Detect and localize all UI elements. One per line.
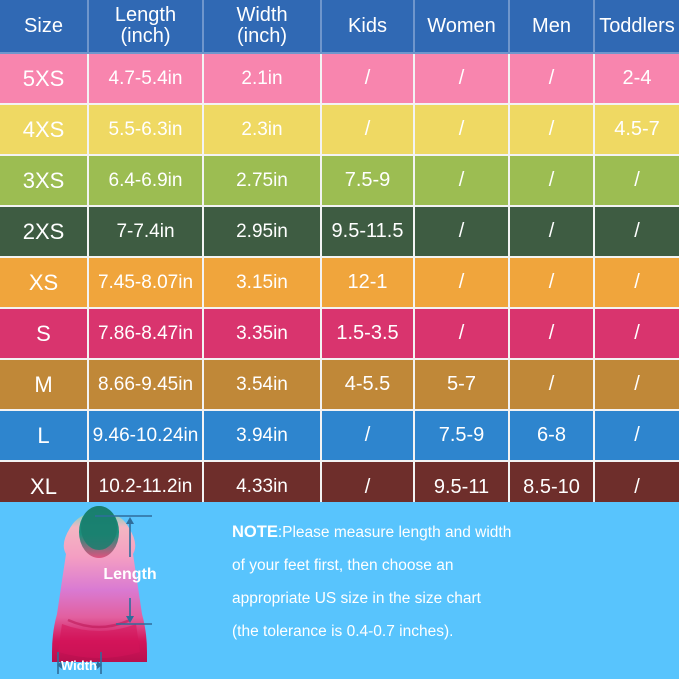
note-line-4: (the tolerance is 0.4-0.7 inches). <box>232 615 667 648</box>
cell-women: 5-7 <box>414 359 509 410</box>
cell-width: 3.54in <box>203 359 321 410</box>
cell-size: 5XS <box>0 53 88 104</box>
table-header: Size Length (inch) Width (inch) Kids Wom… <box>0 0 679 53</box>
table-row: 4XS 5.5-6.3in 2.3in / / / 4.5-7 <box>0 104 679 155</box>
column-header-length-unit: (inch) <box>89 26 202 47</box>
cell-women: / <box>414 308 509 359</box>
cell-men: 6-8 <box>509 410 594 461</box>
column-header-size: Size <box>0 0 88 53</box>
table-row: M 8.66-9.45in 3.54in 4-5.5 5-7 / / <box>0 359 679 410</box>
column-header-kids-label: Kids <box>348 15 387 37</box>
cell-women: / <box>414 257 509 308</box>
cell-width: 2.75in <box>203 155 321 206</box>
cell-size: XS <box>0 257 88 308</box>
cell-toddlers: 2-4 <box>594 53 679 104</box>
note-panel: Length Width NOTE:Please measure length … <box>0 502 679 679</box>
table-row: XS 7.45-8.07in 3.15in 12-1 / / / <box>0 257 679 308</box>
cell-kids: / <box>321 104 414 155</box>
cell-toddlers: / <box>594 257 679 308</box>
width-dimension-label: Width <box>61 658 97 673</box>
length-dimension-label: Length <box>103 566 156 583</box>
cell-size: 4XS <box>0 104 88 155</box>
cell-men: / <box>509 53 594 104</box>
cell-men: / <box>509 257 594 308</box>
column-header-toddlers: Toddlers <box>594 0 679 53</box>
column-header-width-unit: (inch) <box>204 26 320 47</box>
cell-length: 7.86-8.47in <box>88 308 203 359</box>
table-row: S 7.86-8.47in 3.35in 1.5-3.5 / / / <box>0 308 679 359</box>
note-label: NOTE <box>232 523 278 541</box>
cell-length: 5.5-6.3in <box>88 104 203 155</box>
column-header-width: Width (inch) <box>203 0 321 53</box>
cell-kids: 1.5-3.5 <box>321 308 414 359</box>
cell-size: L <box>0 410 88 461</box>
cell-toddlers: 4.5-7 <box>594 104 679 155</box>
table-row: L 9.46-10.24in 3.94in / 7.5-9 6-8 / <box>0 410 679 461</box>
cell-kids: 9.5-11.5 <box>321 206 414 257</box>
column-header-width-label: Width <box>236 4 287 26</box>
cell-length: 7-7.4in <box>88 206 203 257</box>
cell-length: 7.45-8.07in <box>88 257 203 308</box>
cell-women: 7.5-9 <box>414 410 509 461</box>
cell-width: 2.3in <box>203 104 321 155</box>
swim-fin-illustration: Length Width <box>0 502 222 679</box>
note-line-1-text: :Please measure length and width <box>278 524 512 541</box>
table-row: 5XS 4.7-5.4in 2.1in / / / 2-4 <box>0 53 679 104</box>
note-line-1: NOTE:Please measure length and width <box>232 516 667 549</box>
cell-kids: / <box>321 53 414 104</box>
header-row: Size Length (inch) Width (inch) Kids Wom… <box>0 0 679 53</box>
fin-foot-pocket <box>79 506 119 558</box>
cell-width: 3.35in <box>203 308 321 359</box>
column-header-kids: Kids <box>321 0 414 53</box>
note-line-2: of your feet first, then choose an <box>232 549 667 582</box>
cell-length: 4.7-5.4in <box>88 53 203 104</box>
swim-fin-diagram: Length Width <box>0 502 222 679</box>
cell-toddlers: / <box>594 359 679 410</box>
cell-width: 3.15in <box>203 257 321 308</box>
cell-size: 2XS <box>0 206 88 257</box>
note-line-3: appropriate US size in the size chart <box>232 582 667 615</box>
cell-women: / <box>414 155 509 206</box>
note-text-block: NOTE:Please measure length and width of … <box>222 502 679 648</box>
cell-kids: 12-1 <box>321 257 414 308</box>
cell-women: / <box>414 104 509 155</box>
cell-width: 2.1in <box>203 53 321 104</box>
cell-men: / <box>509 104 594 155</box>
cell-width: 3.94in <box>203 410 321 461</box>
cell-men: / <box>509 308 594 359</box>
column-header-men: Men <box>509 0 594 53</box>
column-header-size-label: Size <box>24 15 63 37</box>
cell-women: / <box>414 206 509 257</box>
cell-men: / <box>509 206 594 257</box>
cell-men: / <box>509 155 594 206</box>
size-chart-table: Size Length (inch) Width (inch) Kids Wom… <box>0 0 679 512</box>
cell-women: / <box>414 53 509 104</box>
cell-men: / <box>509 359 594 410</box>
cell-size: S <box>0 308 88 359</box>
cell-size: 3XS <box>0 155 88 206</box>
cell-kids: / <box>321 410 414 461</box>
column-header-length-label: Length <box>115 4 176 26</box>
cell-length: 6.4-6.9in <box>88 155 203 206</box>
cell-size: M <box>0 359 88 410</box>
cell-toddlers: / <box>594 410 679 461</box>
column-header-men-label: Men <box>532 15 571 37</box>
column-header-women: Women <box>414 0 509 53</box>
size-chart-sheet: Size Length (inch) Width (inch) Kids Wom… <box>0 0 679 679</box>
cell-toddlers: / <box>594 206 679 257</box>
table-row: 2XS 7-7.4in 2.95in 9.5-11.5 / / / <box>0 206 679 257</box>
cell-kids: 7.5-9 <box>321 155 414 206</box>
cell-kids: 4-5.5 <box>321 359 414 410</box>
cell-length: 8.66-9.45in <box>88 359 203 410</box>
cell-width: 2.95in <box>203 206 321 257</box>
column-header-women-label: Women <box>427 15 496 37</box>
cell-toddlers: / <box>594 308 679 359</box>
table-body: 5XS 4.7-5.4in 2.1in / / / 2-4 4XS 5.5-6.… <box>0 53 679 512</box>
cell-length: 9.46-10.24in <box>88 410 203 461</box>
column-header-toddlers-label: Toddlers <box>599 15 675 37</box>
table-row: 3XS 6.4-6.9in 2.75in 7.5-9 / / / <box>0 155 679 206</box>
column-header-length: Length (inch) <box>88 0 203 53</box>
cell-toddlers: / <box>594 155 679 206</box>
